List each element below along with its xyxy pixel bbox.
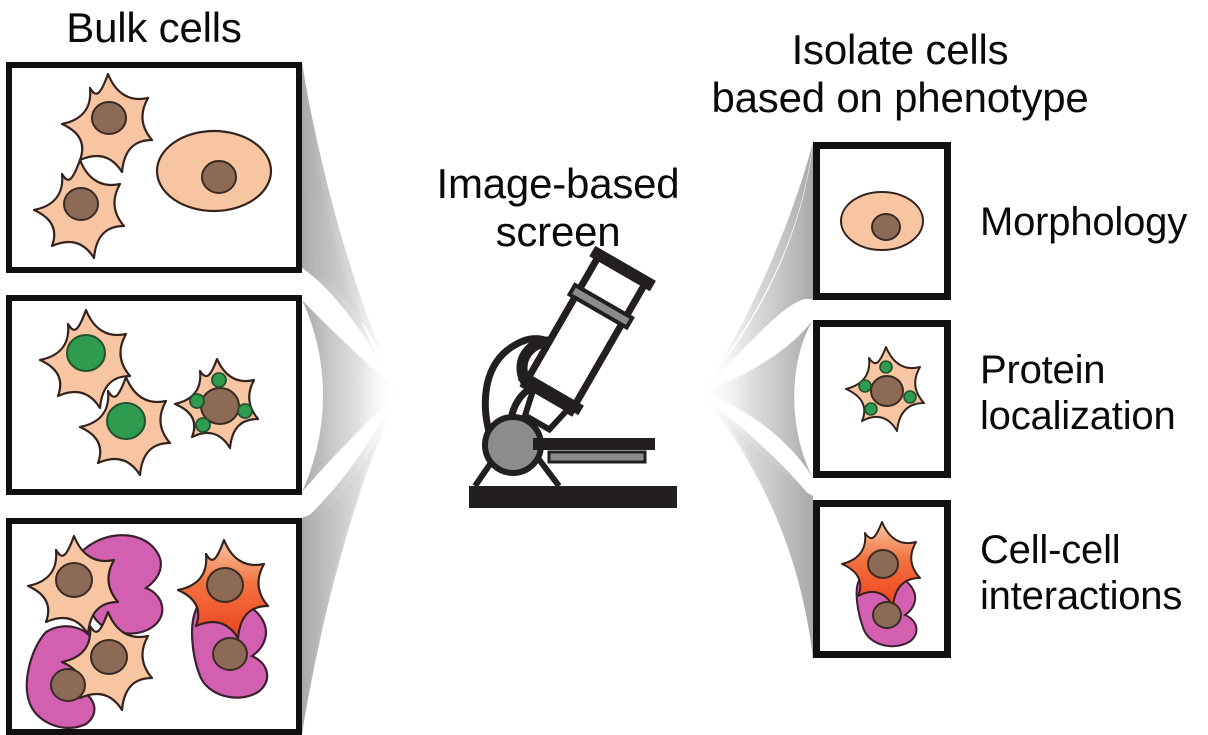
figure-canvas: Bulk cells xyxy=(0,0,1208,735)
nucleus xyxy=(56,563,92,597)
protein-localization-label-line1: Protein xyxy=(980,348,1208,393)
cell-cell-interaction-bulk-cells xyxy=(12,524,296,729)
protein-punctum xyxy=(865,403,877,415)
star-cell xyxy=(34,160,124,258)
cell-cell-interactions-result-panel[interactable] xyxy=(813,500,951,658)
page-title-bulk-cells: Bulk cells xyxy=(6,4,302,51)
nucleus xyxy=(213,638,247,670)
nucleus xyxy=(207,568,243,602)
nucleus xyxy=(871,376,903,406)
cell-cell-interactions-result-cell xyxy=(820,507,944,651)
cell-cell-interaction-bulk-panel[interactable] xyxy=(6,518,302,735)
nucleus xyxy=(872,214,900,240)
nucleus xyxy=(64,188,98,220)
interacting-cell-pair xyxy=(28,535,162,634)
right-title-line2: based on phenotype xyxy=(668,74,1132,121)
nucleus xyxy=(873,602,901,628)
funnel-right-top xyxy=(700,142,813,392)
right-funnel-group xyxy=(700,142,813,658)
protein-punctum xyxy=(859,380,871,392)
microscope-base xyxy=(469,486,677,508)
funnel-left-middle xyxy=(302,300,400,492)
protein-localization-result-cell xyxy=(820,327,944,471)
star-cell-with-puncta xyxy=(175,359,258,448)
morphology-bulk-cells xyxy=(12,68,296,267)
protein-punctum xyxy=(238,404,252,418)
protein-localization-result-panel[interactable] xyxy=(813,320,951,478)
left-funnel-group xyxy=(302,62,400,735)
nucleus-green xyxy=(67,335,105,371)
morphology-bulk-panel[interactable] xyxy=(6,62,302,273)
star-cell xyxy=(40,310,130,408)
nucleus xyxy=(92,102,126,134)
morphology-result-panel[interactable] xyxy=(813,142,951,300)
protein-punctum xyxy=(880,361,892,373)
protein-localization-bulk-cells xyxy=(12,301,296,489)
funnel-right-bottom xyxy=(700,392,813,658)
protein-punctum xyxy=(904,391,916,403)
protein-punctum xyxy=(196,418,210,432)
star-cell xyxy=(62,74,152,172)
cell-cell-interactions-label-line2: interactions xyxy=(980,574,1208,619)
right-title-line1: Isolate cells xyxy=(690,26,1110,73)
funnel-left-top-fill xyxy=(302,62,400,392)
protein-punctum xyxy=(212,373,226,387)
center-title-line2: screen xyxy=(408,208,708,255)
funnel-left-bottom xyxy=(302,392,400,735)
funnel-right-bottom-fill xyxy=(700,392,813,658)
microscope-icon xyxy=(455,275,677,515)
morphology-label: Morphology xyxy=(980,200,1208,245)
nucleus xyxy=(202,161,236,193)
interacting-cell-pair-highlighted xyxy=(178,540,268,698)
protein-localization-bulk-panel[interactable] xyxy=(6,295,302,495)
microscope-slide xyxy=(549,452,645,462)
morphology-result-cell xyxy=(820,149,944,293)
protein-localization-label-line2: localization xyxy=(980,394,1208,439)
funnel-left-bottom-fill xyxy=(302,392,400,735)
center-title-line1: Image-based xyxy=(408,160,708,207)
nucleus xyxy=(868,550,898,578)
nucleus xyxy=(91,640,127,674)
microscope-focus-knob xyxy=(485,417,541,473)
funnel-right-middle xyxy=(700,320,813,478)
microscope-stage xyxy=(533,438,655,450)
cell-cell-interactions-label-line1: Cell-cell xyxy=(980,528,1208,573)
nucleus xyxy=(51,669,85,701)
nucleus-green xyxy=(107,403,145,439)
round-cell xyxy=(157,131,271,211)
protein-punctum xyxy=(190,394,204,408)
funnel-right-top-fill xyxy=(700,145,813,392)
funnel-left-top xyxy=(302,62,400,392)
